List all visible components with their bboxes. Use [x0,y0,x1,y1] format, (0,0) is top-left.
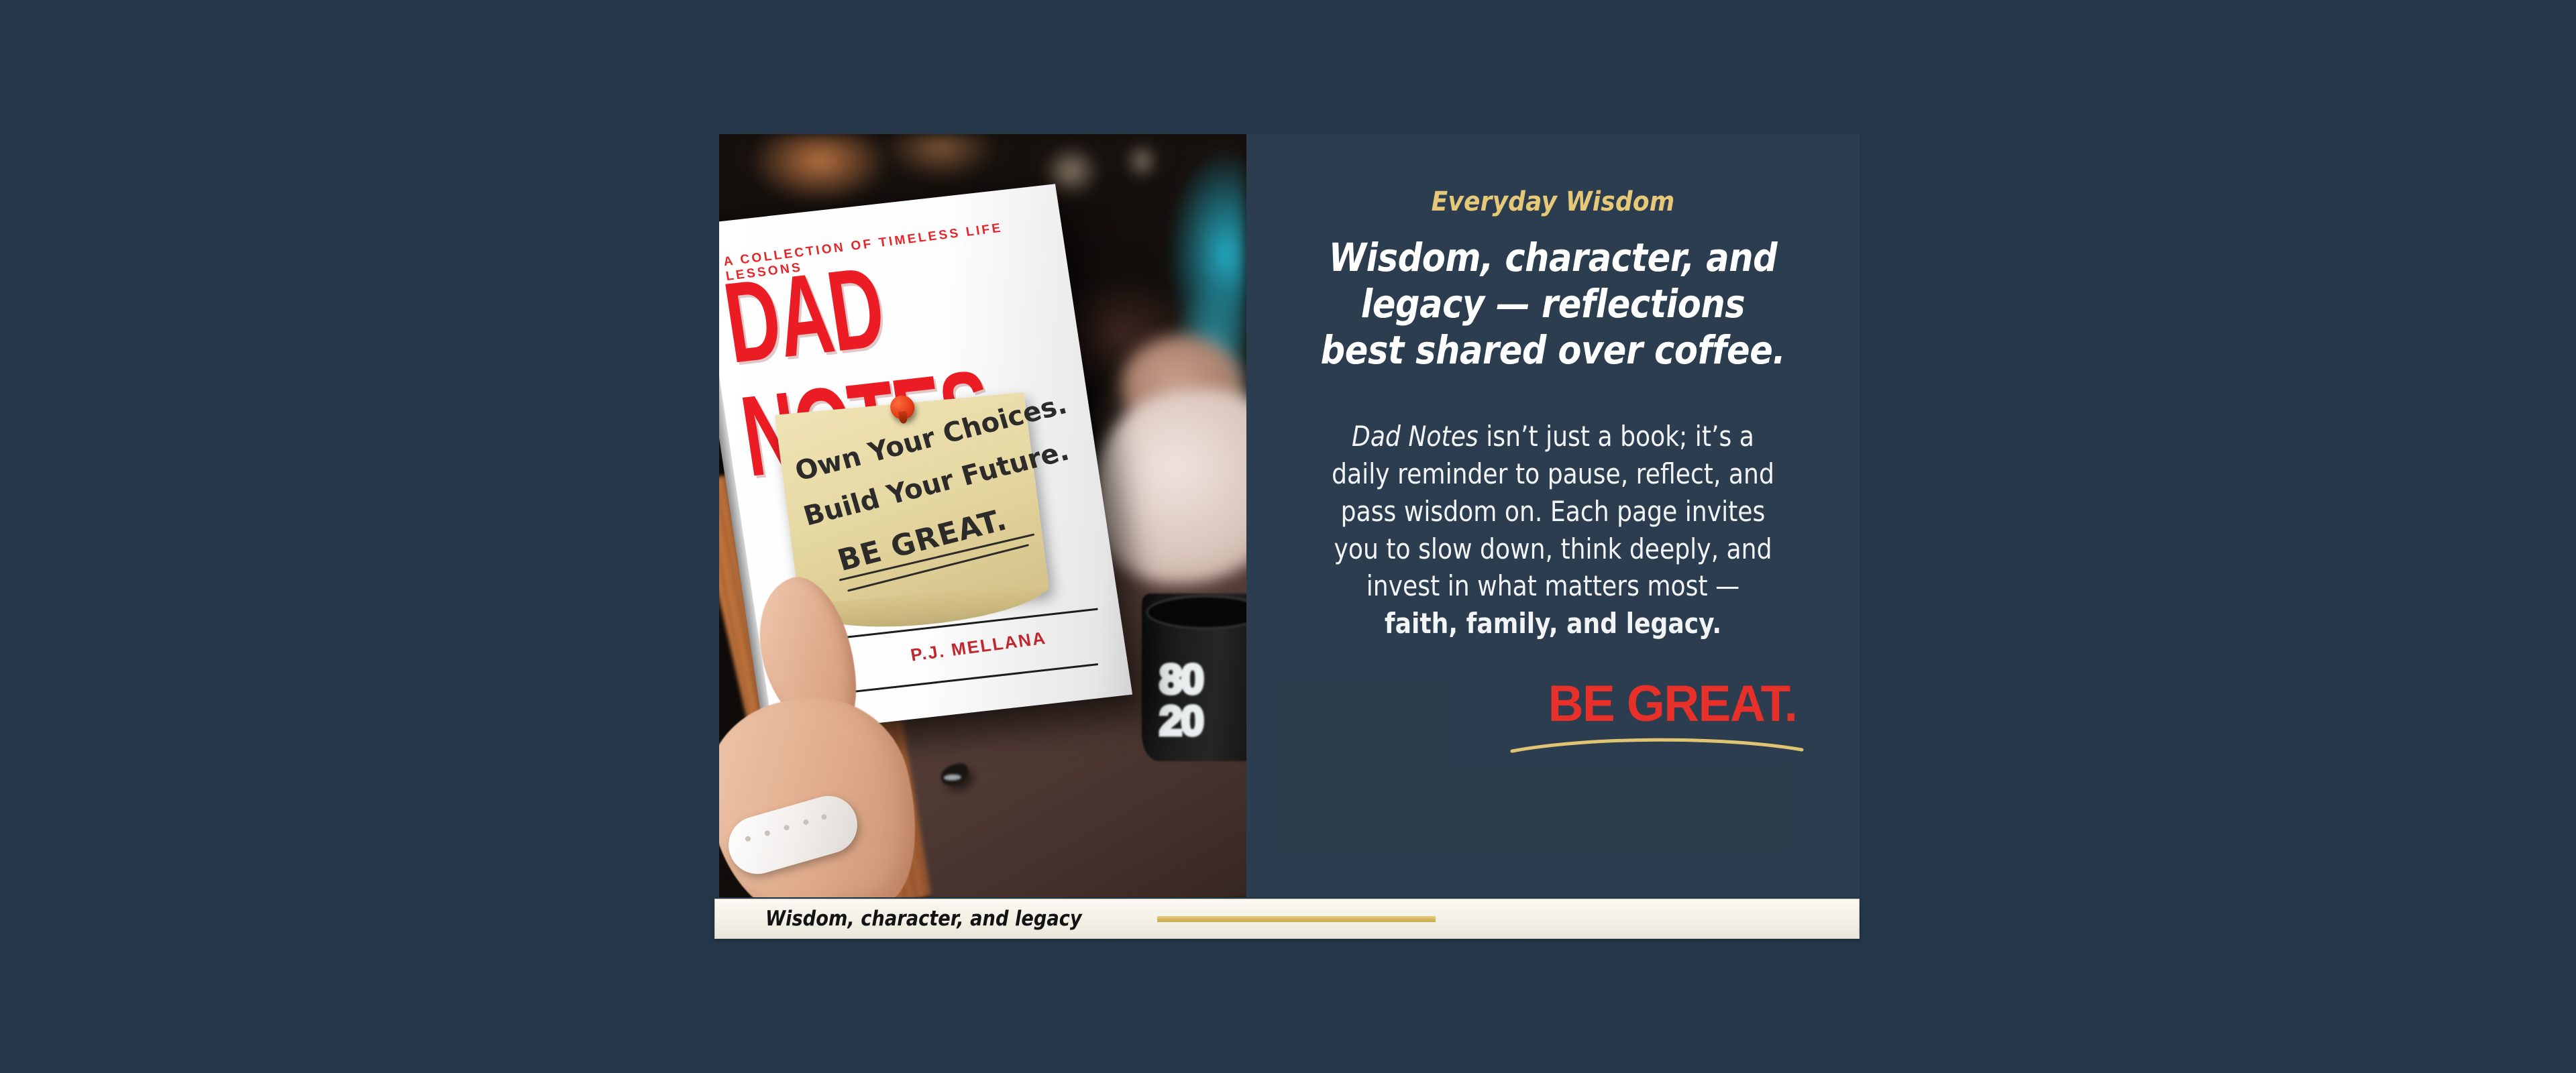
body-emphasis: faith, family, and legacy. [1385,607,1721,640]
book-author: P.J. MELLANA [909,628,1048,666]
headline: Wisdom, character, and legacy — reflecti… [1314,235,1792,374]
promo-banner: 80 20 A COLLECTION OF TIMELESS LIFE LESS… [0,0,2576,1073]
footer-caption-bar: Wisdom, character, and legacy [714,899,1860,939]
gold-swoosh-underline [1509,732,1805,755]
footer-gold-rule [1157,916,1436,922]
footer-caption: Wisdom, character, and legacy [765,907,1082,931]
mug-text-line2: 20 [1159,701,1203,742]
callout-be-great: BE GREAT. [1548,675,1796,733]
body-paragraph: Dad Notes isn’t just a book; it’s a dail… [1320,418,1787,642]
cover-rule-bottom [831,663,1098,695]
sticky-note: Own Your Choices. Build Your Future. BE … [775,392,1050,614]
copy-panel: Everyday Wisdom Wisdom, character, and l… [1246,134,1860,897]
callout-block: BE GREAT. [1281,675,1825,733]
mug-text-line1: 80 [1159,659,1203,701]
body-book-title: Dad Notes [1352,420,1479,453]
coffee-mug: 80 20 [1142,594,1246,761]
book-cover-photo: 80 20 A COLLECTION OF TIMELESS LIFE LESS… [719,134,1246,897]
promo-card: 80 20 A COLLECTION OF TIMELESS LIFE LESS… [719,134,1860,940]
eyebrow-label: Everyday Wisdom [1309,186,1798,217]
